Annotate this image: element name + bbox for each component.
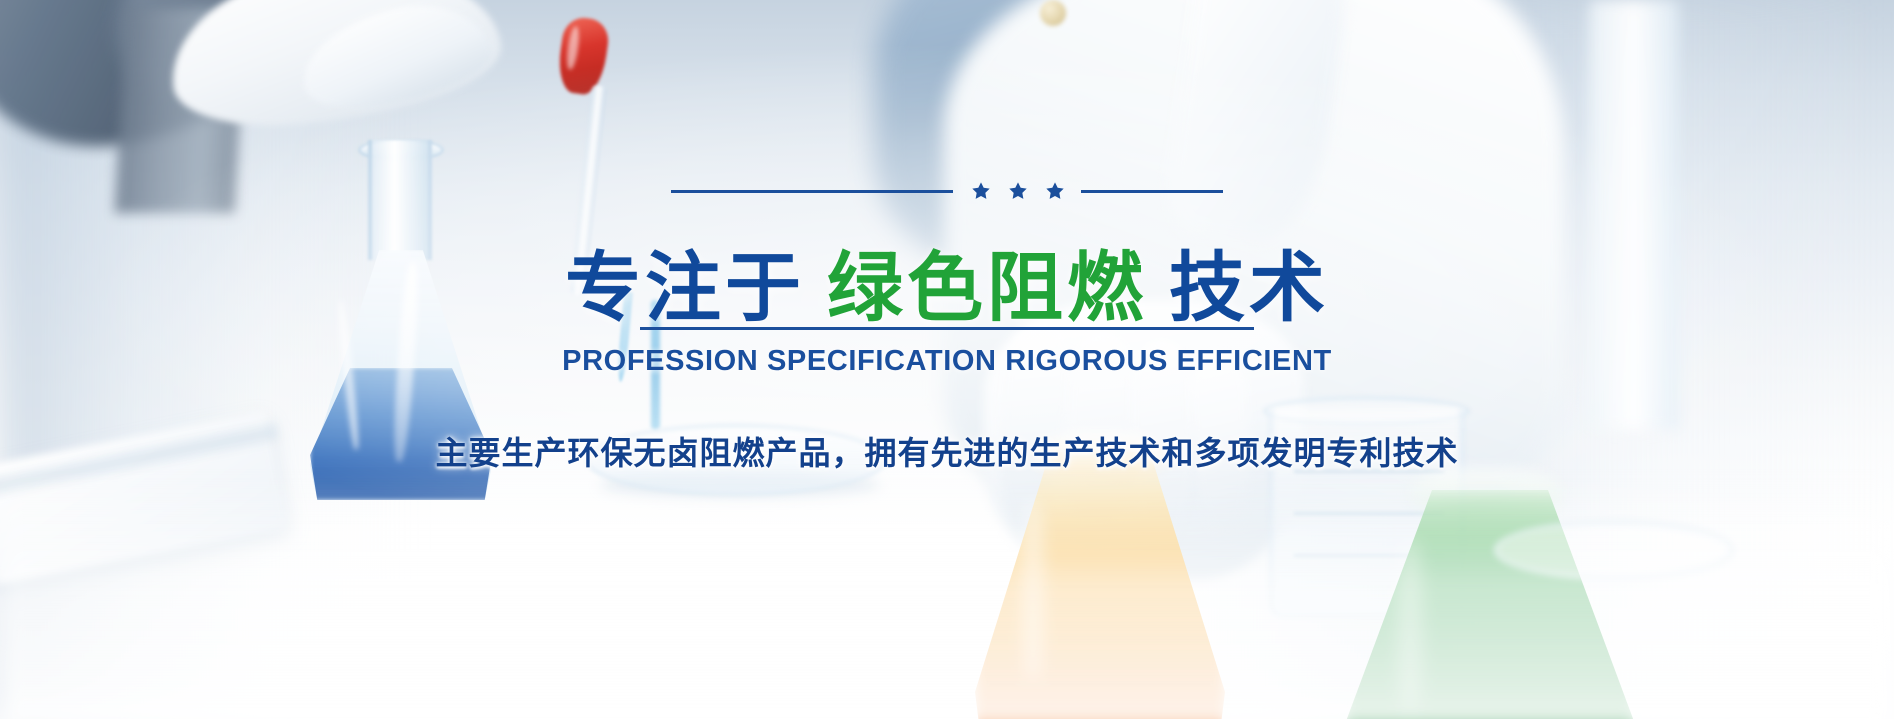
erlenmeyer-flask-neck xyxy=(368,140,432,260)
green-flask-highlight xyxy=(1398,540,1422,710)
orange-flask-highlight xyxy=(1022,500,1044,680)
banner-background-image xyxy=(0,0,1894,719)
blue-liquid-stream xyxy=(651,300,660,430)
glass-cylinder-right xyxy=(1589,0,1679,430)
petri-dish xyxy=(586,424,886,496)
coat-button xyxy=(1040,0,1066,26)
beaker-graduation-1 xyxy=(1294,470,1444,473)
beaker-graduation-2 xyxy=(1294,512,1444,515)
small-dish-right xyxy=(1494,520,1734,580)
hero-banner: 专注于绿色阻燃技术 PROFESSION SPECIFICATION RIGOR… xyxy=(0,0,1894,719)
